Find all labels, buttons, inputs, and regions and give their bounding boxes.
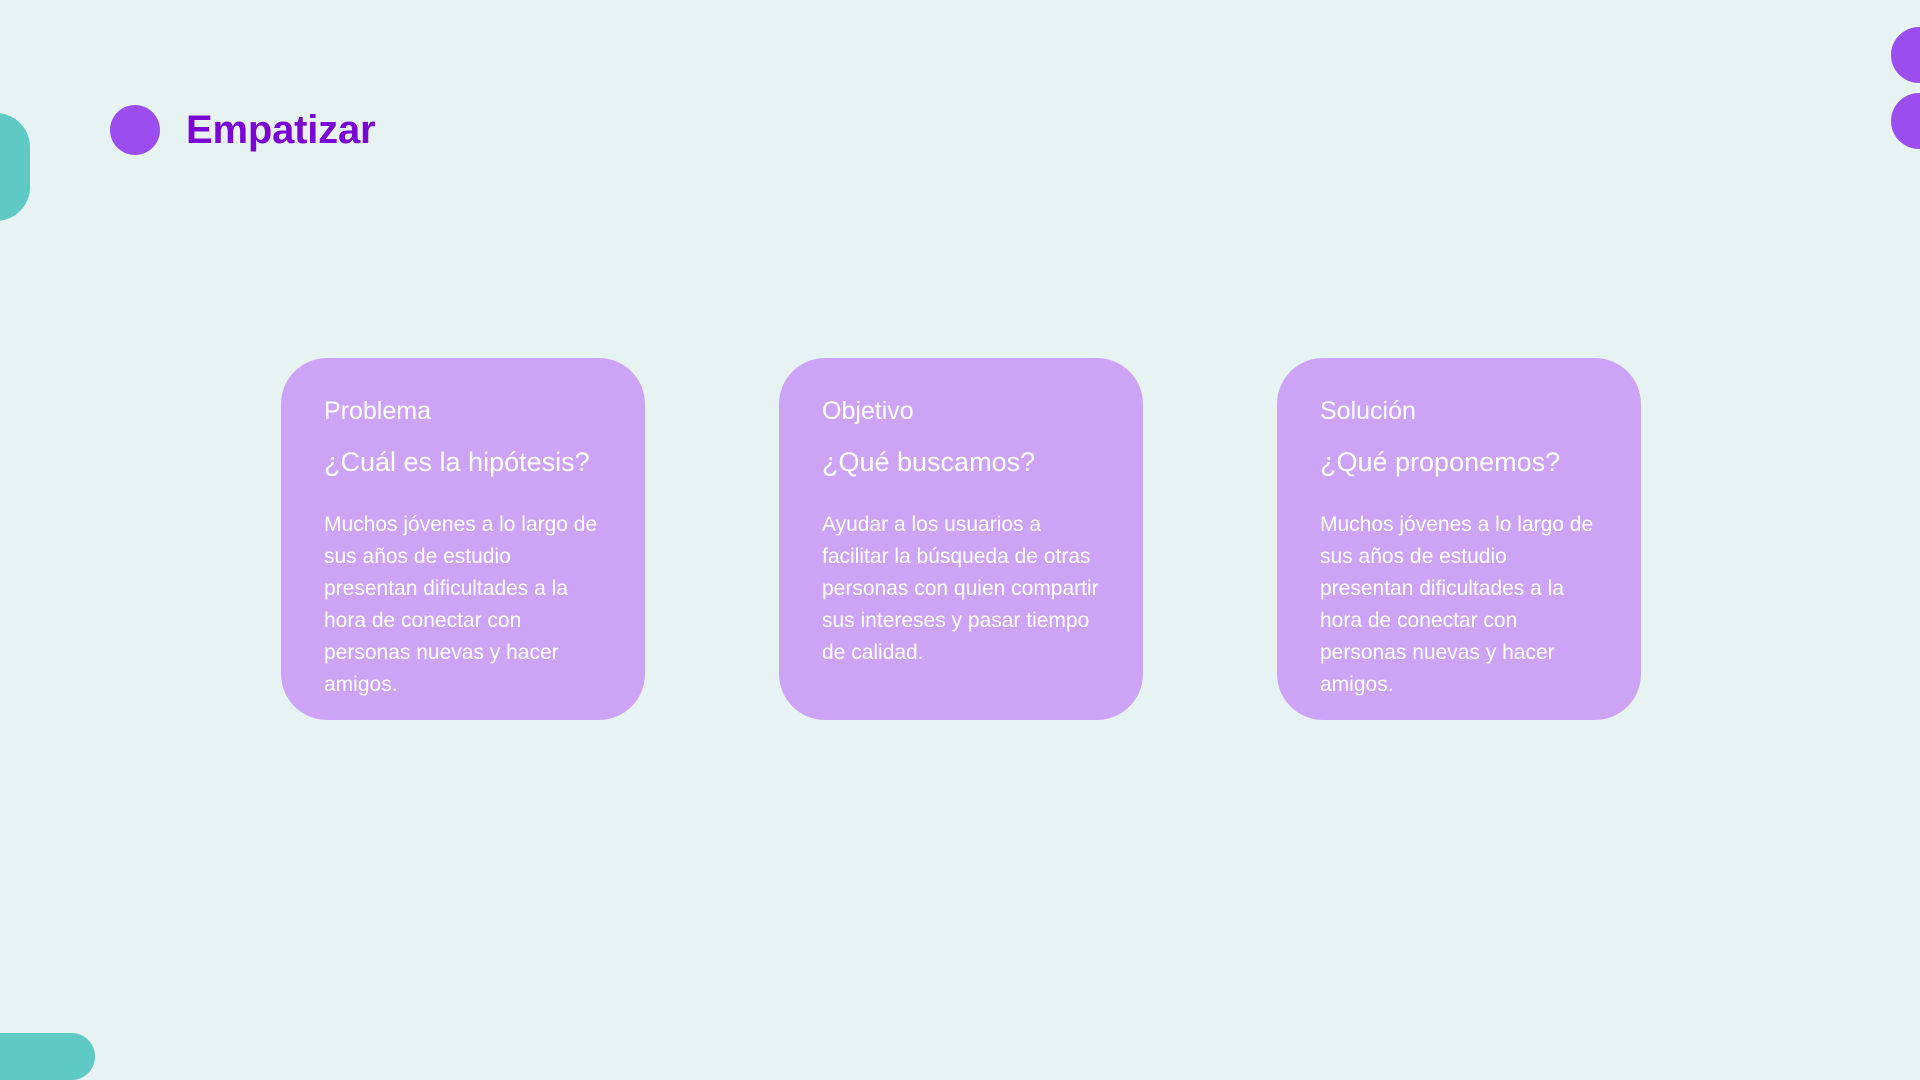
card-body: Muchos jóvenes a lo largo de sus años de…: [324, 509, 605, 700]
card-row: Problema ¿Cuál es la hipótesis? Muchos j…: [281, 358, 1641, 720]
presentation-slide: Empatizar Problema ¿Cuál es la hipótesis…: [0, 0, 1920, 1080]
card-question: ¿Qué buscamos?: [822, 446, 1103, 478]
page-title: Empatizar: [186, 110, 375, 150]
card-objetivo: Objetivo ¿Qué buscamos? Ayudar a los usu…: [779, 358, 1143, 720]
purple-circle-top-right-2: [1891, 93, 1920, 149]
card-kicker: Solución: [1320, 396, 1601, 426]
teal-rounded-shape-left: [0, 113, 30, 221]
bullet-circle-icon: [110, 105, 160, 155]
card-question: ¿Cuál es la hipótesis?: [324, 446, 605, 478]
card-body: Muchos jóvenes a lo largo de sus años de…: [1320, 509, 1601, 700]
teal-rounded-shape-bottom-left: [0, 1033, 95, 1080]
card-kicker: Objetivo: [822, 396, 1103, 426]
slide-header: Empatizar: [110, 105, 375, 155]
card-body: Ayudar a los usuarios a facilitar la bús…: [822, 509, 1103, 669]
card-problema: Problema ¿Cuál es la hipótesis? Muchos j…: [281, 358, 645, 720]
card-solucion: Solución ¿Qué proponemos? Muchos jóvenes…: [1277, 358, 1641, 720]
purple-circle-top-right-1: [1891, 27, 1920, 83]
card-kicker: Problema: [324, 396, 605, 426]
card-question: ¿Qué proponemos?: [1320, 446, 1601, 478]
